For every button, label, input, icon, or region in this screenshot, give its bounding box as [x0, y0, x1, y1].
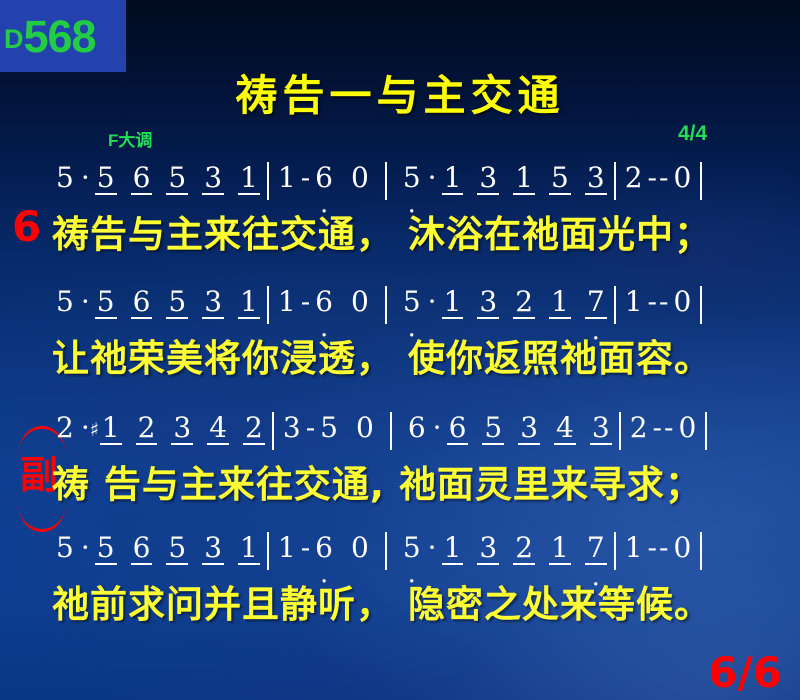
- measure-4-3: 5. · 1 3 2 1 7.: [399, 532, 609, 564]
- stanza-3-chorus: 2 · ♯1 2 3 4 2 3 - 5 0 6 · 6: [0, 412, 800, 520]
- sustain-dash: -: [300, 532, 311, 564]
- note: 1: [621, 286, 647, 318]
- page-title: 祷告一与主交通: [0, 62, 800, 123]
- note: 3: [475, 532, 501, 564]
- note: 2: [621, 162, 647, 194]
- measure-3-3: 6 · 6 5 3 4 3: [404, 412, 614, 444]
- rest: 0: [669, 532, 695, 564]
- measure-2-1: 5 · 5 6 5 3 1: [52, 286, 262, 318]
- rest: 0: [347, 162, 373, 194]
- note: 3: [588, 412, 614, 444]
- barline: [705, 412, 707, 450]
- key-signature-label: F大调: [108, 126, 152, 151]
- note: 5: [52, 286, 78, 318]
- note: 7.: [583, 532, 609, 564]
- note: 3: [200, 162, 226, 194]
- rest: 0: [669, 162, 695, 194]
- sustain-dash: -: [300, 162, 311, 194]
- sustain-dash: -: [658, 162, 669, 194]
- note: 4: [205, 412, 231, 444]
- barline: [267, 532, 269, 570]
- lyric-line-3: 祷 告与主来往交通,祂面灵里来寻求；: [52, 454, 703, 508]
- barline: [614, 162, 616, 200]
- measure-4-1: 5 · 5 6 5 3 1: [52, 532, 262, 564]
- note: 1: [236, 532, 262, 564]
- note: 3: [516, 412, 542, 444]
- augmentation-dot: ·: [78, 162, 93, 194]
- stanza-2: 5 · 5 6 5 3 1 1 - 6. 0 5. · 1 3: [0, 286, 800, 394]
- sustain-dash: -: [658, 532, 669, 564]
- note: 5: [164, 162, 190, 194]
- augmentation-dot: ·: [78, 532, 93, 564]
- note: 3: [475, 286, 501, 318]
- barline: [390, 412, 392, 450]
- lyric-segment: 让祂荣美将你浸透，: [52, 337, 394, 380]
- hymn-book-prefix: D: [4, 26, 24, 53]
- note: 3: [583, 162, 609, 194]
- measure-3-2: 3 - 5 0: [279, 412, 378, 444]
- sharp-icon: ♯: [90, 414, 99, 446]
- measure-2-2: 1 - 6. 0: [274, 286, 373, 318]
- lyric-segment: 祷告与主来往交通，: [52, 213, 394, 256]
- sustain-dash: -: [663, 412, 674, 444]
- note: 6: [129, 286, 155, 318]
- rest: 0: [347, 286, 373, 318]
- barline: [614, 286, 616, 324]
- note: 6.: [311, 532, 337, 564]
- rest: 0: [674, 412, 700, 444]
- lyric-segment: 沐浴在祂面光中；: [408, 213, 712, 256]
- barline: [385, 532, 387, 570]
- note: 5: [93, 286, 119, 318]
- note: 1: [274, 532, 300, 564]
- augmentation-dot: ·: [430, 412, 445, 444]
- note: 3: [169, 412, 195, 444]
- barline: [385, 286, 387, 324]
- augmentation-dot: ·: [78, 286, 93, 318]
- stanza-1: 5 · 5 6 5 3 1 1 - 6. 0 5. · 1 3: [0, 162, 800, 270]
- sustain-dash: -: [647, 162, 658, 194]
- note: 5.: [399, 286, 425, 318]
- note: 2: [511, 532, 537, 564]
- rest: 0: [669, 286, 695, 318]
- note: 5: [316, 412, 342, 444]
- note: 1: [440, 532, 466, 564]
- note: ♯1: [98, 412, 124, 444]
- hymn-slide: D 568 祷告一与主交通 F大调 4/4 6 副 5 · 5 6 5 3 1 …: [0, 0, 800, 700]
- note: 1: [274, 162, 300, 194]
- lyric-segment: 使你返照祂面容。: [408, 337, 712, 380]
- note: 6.: [311, 162, 337, 194]
- note: 3: [200, 532, 226, 564]
- note: 2: [134, 412, 160, 444]
- sustain-dash: -: [652, 412, 663, 444]
- barline: [700, 532, 702, 570]
- note: 2: [52, 412, 78, 444]
- note: 5: [52, 532, 78, 564]
- barline: [619, 412, 621, 450]
- note: 2: [626, 412, 652, 444]
- note: 5: [164, 532, 190, 564]
- rest: 0: [347, 532, 373, 564]
- barline: [267, 162, 269, 200]
- sustain-dash: -: [647, 532, 658, 564]
- lyric-segment: 祂前求问并且静听，: [52, 583, 394, 626]
- time-signature-label: 4/4: [678, 122, 707, 146]
- note: 4: [552, 412, 578, 444]
- hymn-number: 568: [24, 14, 96, 59]
- barline: [272, 412, 274, 450]
- sustain-dash: -: [300, 286, 311, 318]
- lyric-segment: 祷 告与主来往交通,: [52, 463, 385, 506]
- barline: [614, 532, 616, 570]
- note: 5: [547, 162, 573, 194]
- note: 5: [93, 532, 119, 564]
- notation-line-3: 2 · ♯1 2 3 4 2 3 - 5 0 6 · 6: [52, 412, 712, 456]
- rest: 0: [352, 412, 378, 444]
- note: 6: [445, 412, 471, 444]
- barline: [700, 286, 702, 324]
- note: 3: [279, 412, 305, 444]
- measure-3-1: 2 · ♯1 2 3 4 2: [52, 412, 267, 444]
- note: 6.: [311, 286, 337, 318]
- note: 1: [236, 286, 262, 318]
- note: 3: [200, 286, 226, 318]
- note: 1: [274, 286, 300, 318]
- page-indicator: 6/6: [708, 652, 782, 694]
- note: 5: [480, 412, 506, 444]
- notation-line-1: 5 · 5 6 5 3 1 1 - 6. 0 5. · 1 3: [52, 162, 707, 206]
- augmentation-dot: ·: [425, 162, 440, 194]
- note: 2: [511, 286, 537, 318]
- measure-1-4: 2 - - 0: [621, 162, 696, 194]
- note: 5: [52, 162, 78, 194]
- note: 7.: [583, 286, 609, 318]
- barline: [700, 162, 702, 200]
- note: 1: [236, 162, 262, 194]
- note: 5.: [399, 532, 425, 564]
- lyric-segment: 隐密之处来等候。: [408, 583, 712, 626]
- note: 1: [547, 532, 573, 564]
- note: 1: [440, 286, 466, 318]
- note: 5: [93, 162, 119, 194]
- measure-1-2: 1 - 6. 0: [274, 162, 373, 194]
- stanza-4: 5 · 5 6 5 3 1 1 - 6. 0 5. · 1 3: [0, 532, 800, 640]
- lyric-line-4: 祂前求问并且静听，隐密之处来等候。: [52, 574, 712, 628]
- note: 6: [129, 162, 155, 194]
- lyric-line-1: 祷告与主来往交通，沐浴在祂面光中；: [52, 204, 712, 258]
- sustain-dash: -: [305, 412, 316, 444]
- note: 2: [241, 412, 267, 444]
- lyric-segment: 祂面灵里来寻求；: [399, 463, 703, 506]
- measure-4-4: 1 - - 0: [621, 532, 696, 564]
- note: 1: [440, 162, 466, 194]
- lyric-line-2: 让祂荣美将你浸透，使你返照祂面容。: [52, 328, 712, 382]
- note: 5.: [399, 162, 425, 194]
- note: 1: [547, 286, 573, 318]
- note: 5: [164, 286, 190, 318]
- notation-line-2: 5 · 5 6 5 3 1 1 - 6. 0 5. · 1 3: [52, 286, 707, 330]
- note: 1: [511, 162, 537, 194]
- note: 3: [475, 162, 501, 194]
- note: 6: [404, 412, 430, 444]
- sustain-dash: -: [658, 286, 669, 318]
- note: 6: [129, 532, 155, 564]
- measure-3-4: 2 - - 0: [626, 412, 701, 444]
- barline: [385, 162, 387, 200]
- measure-4-2: 1 - 6. 0: [274, 532, 373, 564]
- sustain-dash: -: [647, 286, 658, 318]
- augmentation-dot: ·: [425, 286, 440, 318]
- notation-line-4: 5 · 5 6 5 3 1 1 - 6. 0 5. · 1 3: [52, 532, 707, 576]
- note: 1: [621, 532, 647, 564]
- barline: [267, 286, 269, 324]
- measure-1-3: 5. · 1 3 1 5 3: [399, 162, 609, 194]
- measure-1-1: 5 · 5 6 5 3 1: [52, 162, 262, 194]
- measure-2-4: 1 - - 0: [621, 286, 696, 318]
- augmentation-dot: ·: [425, 532, 440, 564]
- measure-2-3: 5. · 1 3 2 1 7.: [399, 286, 609, 318]
